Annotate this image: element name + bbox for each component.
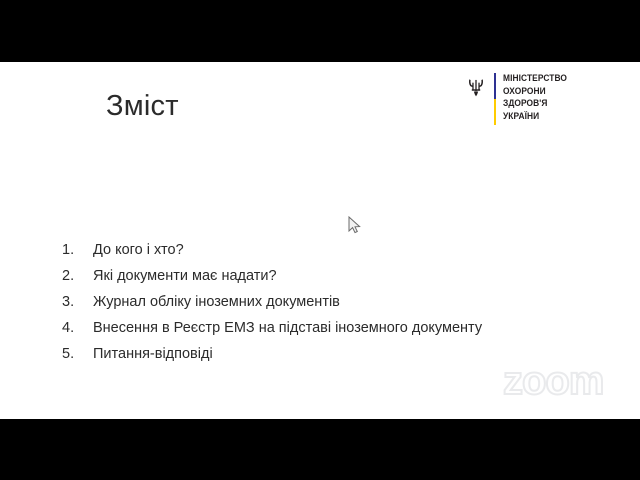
zoom-watermark: zoom bbox=[503, 363, 613, 401]
video-call-screen: Зміст 1. До кого і хто? 2. Які документи… bbox=[0, 0, 640, 480]
slide-title: Зміст bbox=[106, 90, 179, 123]
accent-bar-yellow bbox=[0, 235, 43, 417]
presentation-slide: Зміст 1. До кого і хто? 2. Які документи… bbox=[0, 62, 640, 419]
list-item: 4. Внесення в Реєстр ЕМЗ на підставі іно… bbox=[62, 320, 482, 346]
list-item-number: 4. bbox=[62, 320, 93, 336]
logo-divider bbox=[494, 73, 496, 125]
list-item-number: 1. bbox=[62, 242, 93, 258]
logo-line: ОХОРОНИ bbox=[503, 85, 567, 98]
letterbox-top bbox=[0, 0, 640, 62]
logo-line: ЗДОРОВ'Я bbox=[503, 97, 567, 110]
list-item: 1. До кого і хто? bbox=[62, 242, 482, 268]
list-item-label: До кого і хто? bbox=[93, 242, 184, 258]
ministry-logo-text: МІНІСТЕРСТВО ОХОРОНИ ЗДОРОВ'Я УКРАЇНИ bbox=[503, 71, 572, 122]
logo-line: УКРАЇНИ bbox=[503, 110, 567, 123]
ukrainian-trident-icon bbox=[465, 77, 487, 99]
list-item-label: Журнал обліку іноземних документів bbox=[93, 294, 340, 310]
list-item-label: Питання-відповіді bbox=[93, 346, 213, 362]
list-item-label: Внесення в Реєстр ЕМЗ на підставі інозем… bbox=[93, 320, 482, 336]
list-item: 2. Які документи має надати? bbox=[62, 268, 482, 294]
list-item: 3. Журнал обліку іноземних документів bbox=[62, 294, 482, 320]
accent-bar-blue bbox=[0, 62, 43, 235]
ministry-of-health-logo: МІНІСТЕРСТВО ОХОРОНИ ЗДОРОВ'Я УКРАЇНИ bbox=[465, 71, 572, 129]
zoom-watermark-label: zoom bbox=[503, 363, 603, 401]
list-item-number: 3. bbox=[62, 294, 93, 310]
agenda-list: 1. До кого і хто? 2. Які документи має н… bbox=[62, 242, 482, 372]
list-item-number: 5. bbox=[62, 346, 93, 362]
logo-line: МІНІСТЕРСТВО bbox=[503, 72, 567, 85]
list-item: 5. Питання-відповіді bbox=[62, 346, 482, 372]
list-item-label: Які документи має надати? bbox=[93, 268, 277, 284]
arrow-pointer-icon bbox=[348, 216, 361, 234]
list-item-number: 2. bbox=[62, 268, 93, 284]
